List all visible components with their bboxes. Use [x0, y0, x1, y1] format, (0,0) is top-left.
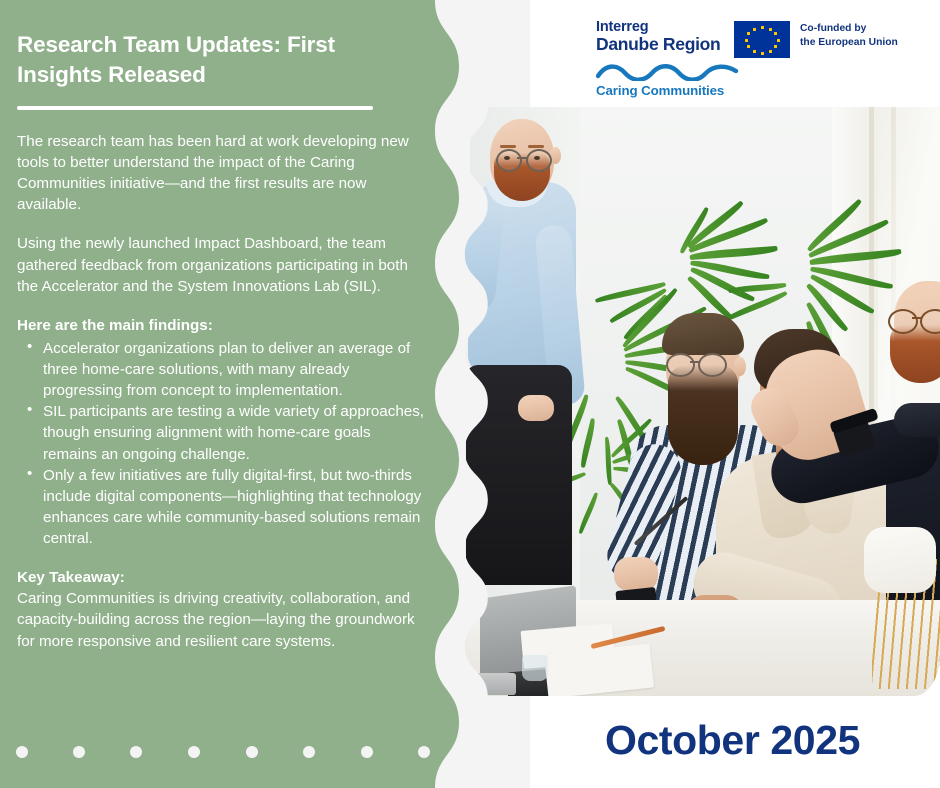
dot [418, 746, 430, 758]
issue-date: October 2025 [605, 717, 860, 764]
dot [188, 746, 200, 758]
european-union-flag-icon [734, 21, 790, 58]
dot [246, 746, 258, 758]
hero-photo [460, 107, 940, 696]
eu-funding-text: Co-funded by the European Union [800, 22, 898, 50]
article-content: Research Team Updates: First Insights Re… [17, 30, 425, 670]
dot [361, 746, 373, 758]
dot [73, 746, 85, 758]
eyeglasses-icon [496, 149, 522, 172]
photo-scene [460, 107, 940, 696]
takeaway-body: Caring Communities is driving creativity… [17, 588, 425, 651]
eu-text-line-1: Co-funded by [800, 22, 898, 36]
list-item: Accelerator organizations plan to delive… [43, 338, 425, 401]
dot [16, 746, 28, 758]
dot-decoration-row [0, 746, 440, 760]
page-title: Research Team Updates: First Insights Re… [17, 30, 425, 89]
logo-bar: Interreg Danube Region Co-funded by the … [530, 0, 940, 107]
title-divider [17, 106, 373, 110]
interreg-line-2: Danube Region [596, 35, 720, 53]
eyeglasses-icon [526, 149, 552, 172]
caring-communities-label: Caring Communities [596, 83, 746, 98]
dot [130, 746, 142, 758]
intro-paragraph-1: The research team has been hard at work … [17, 131, 425, 216]
list-item: SIL participants are testing a wide vari… [43, 401, 425, 464]
newsletter-page: Research Team Updates: First Insights Re… [0, 0, 940, 788]
water-glass [522, 655, 548, 681]
person-standing-man [460, 107, 616, 587]
eyeglasses-icon [666, 353, 695, 377]
interreg-line-1: Interreg [596, 20, 720, 35]
caring-communities-logo: Caring Communities [596, 62, 746, 98]
cushion [864, 527, 936, 593]
list-item: Only a few initiatives are fully digital… [43, 465, 425, 550]
eyeglasses-icon [888, 309, 918, 334]
laptop-base [476, 673, 516, 695]
dot [303, 746, 315, 758]
findings-heading: Here are the main findings: [17, 315, 425, 336]
findings-list: Accelerator organizations plan to delive… [17, 338, 425, 549]
takeaway-heading: Key Takeaway: [17, 567, 425, 588]
eu-text-line-2: the European Union [800, 36, 898, 50]
intro-paragraph-2: Using the newly launched Impact Dashboar… [17, 233, 425, 296]
interreg-logo: Interreg Danube Region [596, 20, 720, 53]
wave-mark-icon [596, 62, 739, 81]
